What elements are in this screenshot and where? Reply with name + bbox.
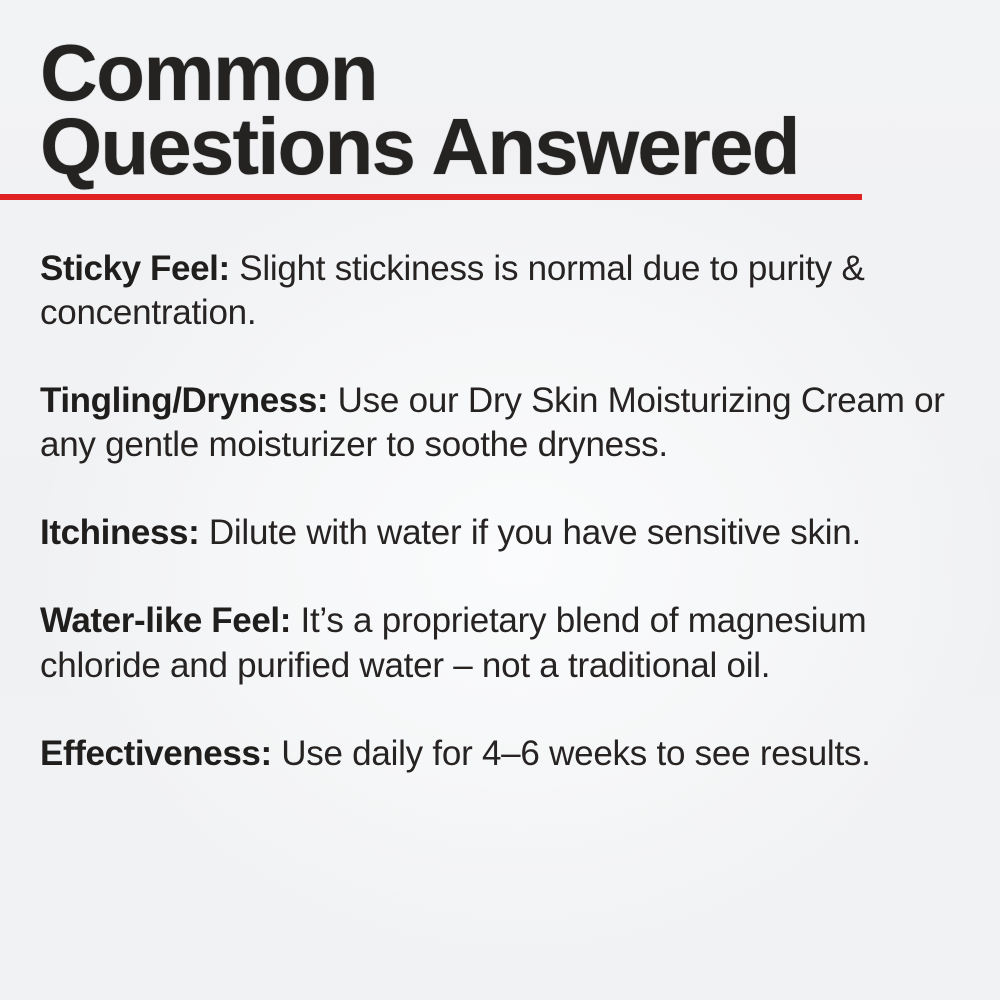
faq-term-sticky-feel: Sticky Feel: — [40, 249, 230, 288]
faq-term-itchiness: Itchiness: — [40, 513, 199, 552]
page-title-line-1: Common — [40, 36, 920, 110]
faq-term-tingling-dryness: Tingling/Dryness: — [40, 381, 328, 420]
page-title: Common Questions Answered — [40, 36, 920, 183]
title-divider-rule — [0, 194, 862, 200]
faq-list: Sticky Feel: Slight stickiness is normal… — [40, 247, 992, 776]
faq-item-tingling-dryness: Tingling/Dryness: Use our Dry Skin Moist… — [40, 379, 992, 467]
faq-item-itchiness: Itchiness: Dilute with water if you have… — [40, 511, 992, 555]
faq-term-water-like-feel: Water-like Feel: — [40, 601, 291, 640]
faq-item-effectiveness: Effectiveness: Use daily for 4–6 weeks t… — [40, 732, 992, 776]
faq-answer-effectiveness: Use daily for 4–6 weeks to see results. — [281, 734, 870, 773]
faq-item-sticky-feel: Sticky Feel: Slight stickiness is normal… — [40, 247, 992, 335]
faq-item-water-like-feel: Water-like Feel: It’s a proprietary blen… — [40, 599, 992, 687]
faq-term-effectiveness: Effectiveness: — [40, 734, 272, 773]
page-title-line-2: Questions Answered — [40, 110, 920, 184]
faq-answer-itchiness: Dilute with water if you have sensitive … — [209, 513, 861, 552]
faq-graphic: Common Questions Answered Sticky Feel: S… — [0, 0, 1000, 1000]
